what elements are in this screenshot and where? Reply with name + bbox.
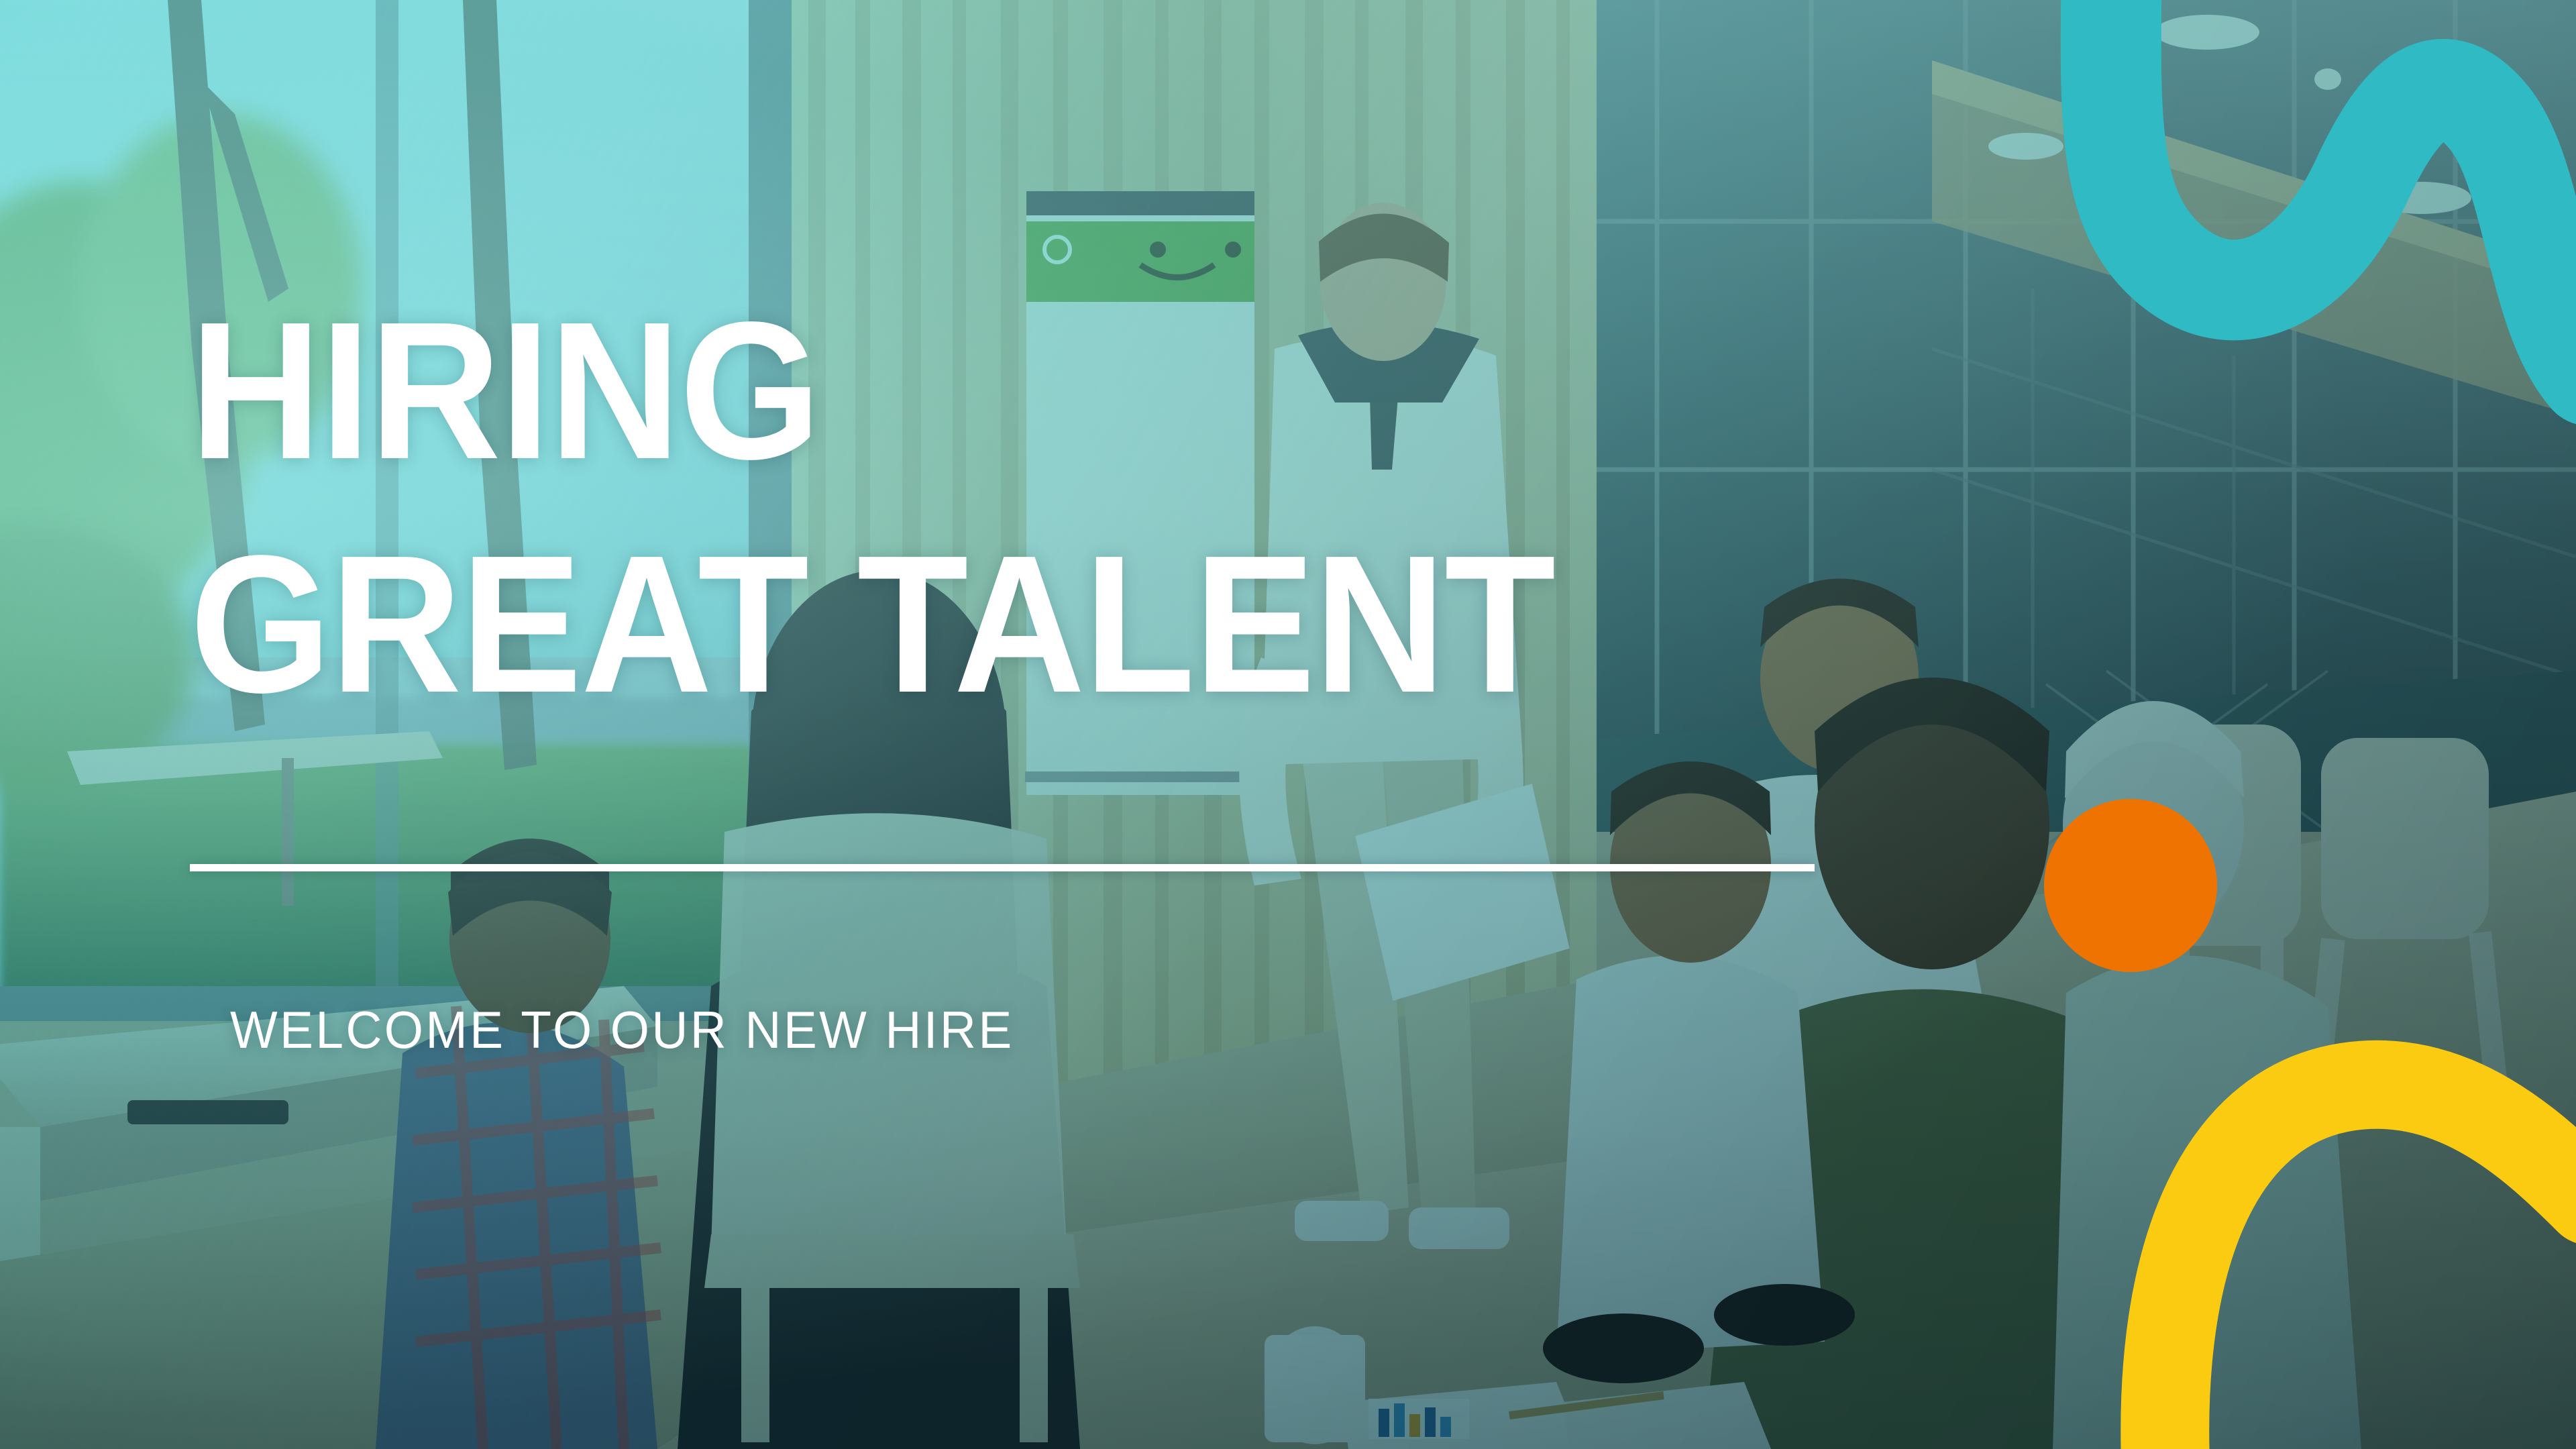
subheadline: WELCOME TO OUR NEW HIRE	[230, 1000, 1014, 1061]
headline-line-2: GREAT TALENT	[190, 542, 1554, 706]
divider-rule	[190, 864, 1815, 871]
headline-line-1: HIRING	[190, 309, 820, 473]
poster-canvas: HIRING GREAT TALENT WELCOME TO OUR NEW H…	[0, 0, 2576, 1449]
poster-copy: HIRING GREAT TALENT WELCOME TO OUR NEW H…	[0, 0, 2576, 1449]
